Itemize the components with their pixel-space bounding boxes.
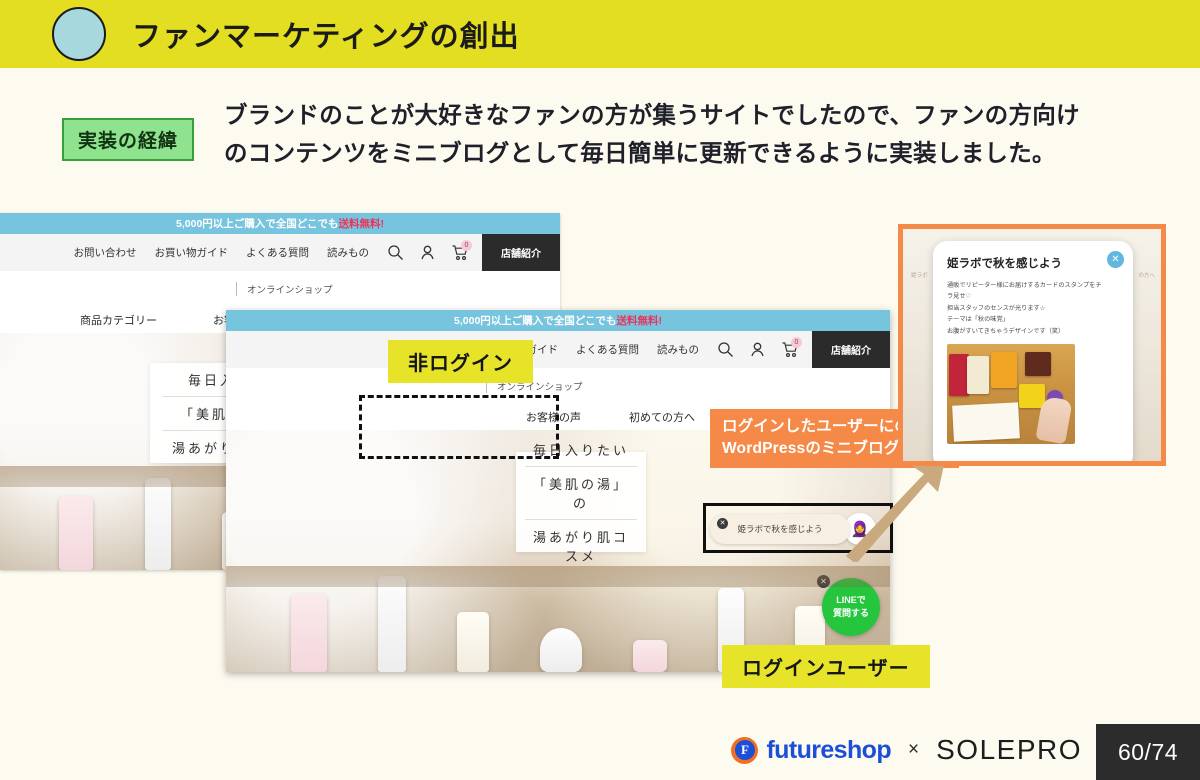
slide: ファンマーケティングの創出 実装の経緯 ブランドのことが大好きなファンの方が集う…: [0, 0, 1200, 780]
site-subbar: オンラインショップ: [0, 271, 560, 307]
stamp-cream: [967, 356, 989, 394]
promo-banner: 5,000円以上ご購入で全国どこでも送料無料!: [226, 310, 890, 331]
minipost-body-line-2: ラ見せ♡: [947, 291, 1119, 302]
lead-line-1: ブランドのことが大好きなファンの方が集うサイトでしたので、ファンの方向け: [224, 96, 1154, 134]
close-icon[interactable]: ✕: [1107, 251, 1124, 268]
product-bottle: [378, 576, 406, 672]
futureshop-name: futureshop: [766, 736, 891, 765]
promo-banner-text: 5,000円以上ご購入で全国どこでも: [454, 313, 616, 328]
stamp-orange: [991, 352, 1017, 388]
minipost-body-line-3: 担当スタッフのセンスが光ります☆: [947, 303, 1119, 314]
section-badge: 実装の経緯: [62, 118, 194, 161]
futureshop-mark-icon: F: [731, 737, 758, 764]
minipost-modal: 姫ラボで秋を感じよう 通販でリピーター様にお届けするカードのスタンプをチ ラ見せ…: [933, 241, 1133, 466]
promo-banner-highlight: 送料無料!: [616, 313, 662, 328]
user-icon[interactable]: [419, 244, 436, 261]
site-mock-b: 5,000円以上ご購入で全国どこでも送料無料! お問い合わせ お買い物ガイド よ…: [226, 310, 890, 672]
menu-item-firsttime[interactable]: 初めての方へ: [629, 409, 695, 425]
futureshop-logo: F futureshop: [731, 736, 891, 765]
minipost-body-line-4: テーマは「秋の味覚」: [947, 314, 1119, 325]
minipost-photo: [947, 344, 1075, 444]
nav-icon-group: 0: [717, 341, 798, 358]
line-question-button[interactable]: ✕ LINEで 質問する: [822, 578, 880, 636]
nav-link-faq[interactable]: よくある質問: [246, 245, 309, 260]
close-icon[interactable]: ✕: [817, 575, 830, 588]
highlight-box-non-login: [359, 395, 559, 459]
minipost-title: 姫ラボで秋を感じよう: [947, 255, 1119, 271]
hero-text-card: 毎日入りたい 「美肌の湯」の 湯あがり肌コスメ: [516, 452, 646, 552]
chat-message: 姫ラボで秋を感じよう: [737, 523, 822, 535]
annotation-login-user: ログインユーザー: [722, 645, 930, 688]
hero-card-line-3: 湯あがり肌コスメ: [525, 520, 637, 572]
page-title: ファンマーケティングの創出: [132, 13, 520, 55]
brand-separator: ×: [908, 739, 919, 761]
store-intro-button[interactable]: 店舗紹介: [482, 234, 560, 271]
screenshot-login-user: 5,000円以上ご購入で全国どこでも送料無料! お問い合わせ お買い物ガイド よ…: [226, 310, 890, 672]
close-icon[interactable]: ✕: [717, 518, 728, 529]
futureshop-mark-letter: F: [735, 740, 755, 760]
brand-row: F futureshop × SOLEPRO: [731, 734, 1082, 766]
popup-bg-text-left: 姫ラボ: [911, 271, 928, 279]
circle-icon: [52, 7, 106, 61]
pointer-arrow: [838, 452, 958, 562]
product-bottle: [457, 612, 489, 672]
cart-icon[interactable]: 0: [451, 244, 468, 261]
slide-footer: F futureshop × SOLEPRO 60/74: [0, 720, 1200, 780]
site-nav: お問い合わせ お買い物ガイド よくある質問 読みもの 0 店舗紹介: [226, 331, 890, 368]
slide-header: ファンマーケティングの創出: [0, 0, 1200, 68]
stamp-brown: [1025, 352, 1051, 376]
annotation-non-login: 非ログイン: [388, 340, 533, 383]
line-button-line-2: 質問する: [833, 607, 869, 620]
solepro-name: SOLEPRO: [936, 734, 1082, 766]
minipost-body-line-5: お腹がすいてきちゃうデザインです（笑）: [947, 326, 1119, 337]
lead-line-2: のコンテンツをミニブログとして毎日簡単に更新できるように実装しました。: [224, 134, 1154, 172]
nav-link-contact[interactable]: お問い合わせ: [74, 245, 137, 260]
nav-link-guide[interactable]: お買い物ガイド: [155, 245, 229, 260]
menu-item-category[interactable]: 商品カテゴリー: [80, 312, 157, 328]
lead-paragraph: ブランドのことが大好きなファンの方が集うサイトでしたので、ファンの方向け のコン…: [224, 96, 1154, 172]
cart-count-badge: 0: [791, 337, 802, 348]
site-nav: お問い合わせ お買い物ガイド よくある質問 読みもの 0 店舗紹介: [0, 234, 560, 271]
product-bottle: [291, 594, 327, 672]
minipost-popup-frame: 姫ラボ の方へ 姫ラボで秋を感じよう 通販でリピーター様にお届けするカードのスタ…: [898, 224, 1166, 466]
promo-banner: 5,000円以上ご購入で全国どこでも送料無料!: [0, 213, 560, 234]
search-icon[interactable]: [387, 244, 404, 261]
cart-count-badge: 0: [461, 240, 472, 251]
product-bottle: [540, 628, 582, 672]
minipost-body: 通販でリピーター様にお届けするカードのスタンプをチ ラ見せ♡ 担当スタッフのセン…: [947, 280, 1119, 337]
minipost-body-line-1: 通販でリピーター様にお届けするカードのスタンプをチ: [947, 280, 1119, 291]
nav-link-reading[interactable]: 読みもの: [657, 342, 699, 357]
card-paper: [952, 403, 1020, 442]
page-number: 60/74: [1096, 724, 1200, 780]
line-button-line-1: LINEで: [836, 594, 866, 607]
chat-bubble[interactable]: ✕ 姫ラボで秋を感じよう: [710, 514, 850, 544]
cart-icon[interactable]: 0: [781, 341, 798, 358]
stamp-red: [949, 354, 969, 396]
store-intro-button[interactable]: 店舗紹介: [812, 331, 890, 368]
online-shop-link[interactable]: オンラインショップ: [236, 282, 333, 296]
nav-link-faq[interactable]: よくある質問: [576, 342, 639, 357]
hero-card-line-2: 「美肌の湯」の: [525, 467, 637, 520]
nav-link-reading[interactable]: 読みもの: [327, 245, 369, 260]
nav-icon-group: 0: [387, 244, 468, 261]
promo-banner-text: 5,000円以上ご購入で全国どこでも: [176, 216, 338, 231]
promo-banner-highlight: 送料無料!: [338, 216, 384, 231]
popup-bg-text-right: の方へ: [1138, 271, 1155, 279]
product-bottle: [59, 496, 93, 570]
user-icon[interactable]: [749, 341, 766, 358]
product-bottle: [633, 640, 667, 672]
product-bottle: [145, 478, 171, 570]
search-icon[interactable]: [717, 341, 734, 358]
